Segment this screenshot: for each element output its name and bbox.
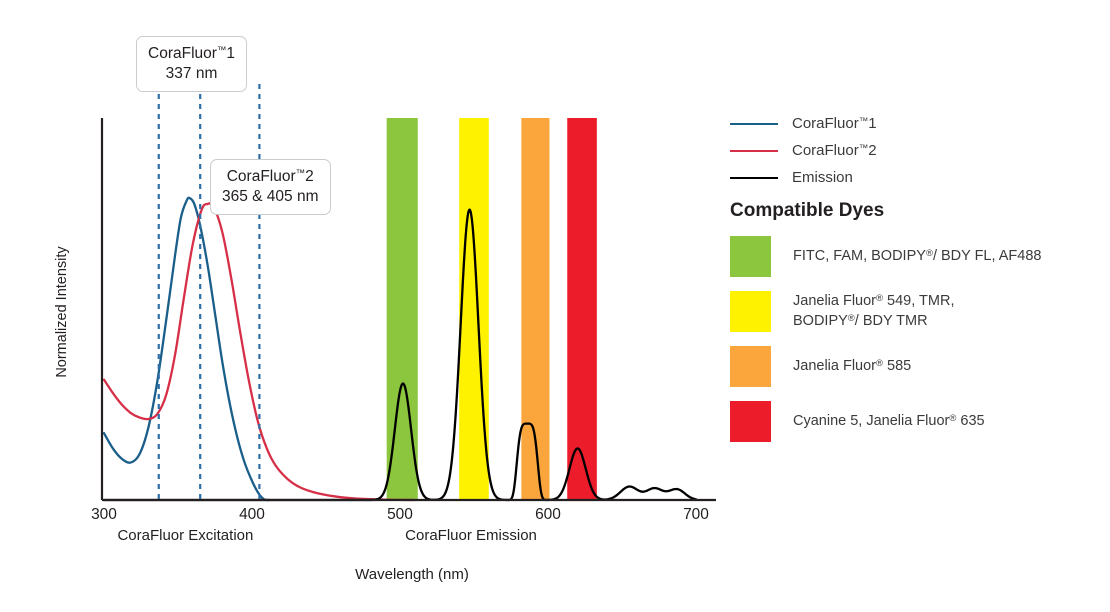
legend-label-tail: 2 [868, 142, 876, 159]
dye-color-swatch [730, 401, 771, 442]
registered-symbol: ® [949, 413, 956, 424]
region-label-excitation: CoraFluor Excitation [117, 527, 253, 544]
legend-line-swatch [730, 150, 778, 152]
dye-color-swatch [730, 291, 771, 332]
excitation-marker-lines [159, 84, 260, 500]
legend-item-label: CoraFluor™1 [792, 115, 877, 132]
dye-label-main: Cyanine 5, Janelia Fluor [793, 413, 949, 429]
legend-label-main: Emission [792, 169, 853, 186]
dye-item-2: Janelia Fluor® 549, TMR,BODIPY®/ BDY TMR [730, 291, 1105, 332]
x-tick-label-400: 400 [239, 506, 265, 524]
registered-symbol: ® [876, 358, 883, 369]
dye-item-1: FITC, FAM, BODIPY®/ BDY FL, AF488 [730, 236, 1105, 277]
trademark-symbol: ™ [859, 143, 869, 154]
legend-item-label: CoraFluor™2 [792, 142, 877, 159]
callout-2-line2: 365 & 405 nm [222, 187, 319, 207]
dye-item-label: Janelia Fluor® 549, TMR,BODIPY®/ BDY TMR [793, 292, 954, 331]
legend-label-main: CoraFluor [792, 142, 859, 159]
dye-label-tail: / BDY TMR [855, 313, 928, 329]
registered-symbol: ® [876, 293, 883, 304]
trademark-symbol: ™ [859, 116, 869, 127]
dye-label-main: FITC, FAM, BODIPY [793, 248, 926, 264]
dye-label-line: Cyanine 5, Janelia Fluor® 635 [793, 412, 985, 431]
callout-coraflour-2: CoraFluor™2 365 & 405 nm [210, 159, 331, 215]
compatible-dyes-title: Compatible Dyes [730, 200, 884, 222]
x-tick-label-600: 600 [535, 506, 561, 524]
legend-label-tail: 1 [868, 115, 876, 132]
registered-symbol: ® [926, 248, 933, 259]
dye-label-tail: 585 [883, 358, 911, 374]
dye-item-3: Janelia Fluor® 585 [730, 346, 1105, 387]
wavelength-bands [387, 118, 597, 500]
callout-2-line1: CoraFluor™2 [222, 167, 319, 187]
red-band [567, 118, 597, 500]
dye-label-line: BODIPY®/ BDY TMR [793, 312, 954, 331]
y-axis-title: Normalized Intensity [54, 246, 70, 377]
x-axis-title: Wavelength (nm) [355, 566, 469, 583]
legend-item-3: Emission [730, 164, 1100, 191]
callout-1-line1: CoraFluor™1 [148, 44, 235, 64]
legend-item-2: CoraFluor™2 [730, 137, 1100, 164]
dye-color-swatch [730, 346, 771, 387]
dye-label-tail: 635 [956, 413, 984, 429]
dye-color-swatch [730, 236, 771, 277]
dye-label-main: Janelia Fluor [793, 293, 876, 309]
legend-label-main: CoraFluor [792, 115, 859, 132]
excitation-curve [104, 198, 270, 500]
legend-item-label: Emission [792, 169, 853, 186]
dye-item-label: Janelia Fluor® 585 [793, 357, 911, 376]
registered-symbol: ® [848, 313, 855, 324]
fluorescence-spectra-figure: CoraFluor™1 337 nm CoraFluor™2 365 & 405… [0, 0, 1110, 612]
yellow-band [459, 118, 489, 500]
dye-label-line: Janelia Fluor® 549, TMR, [793, 292, 954, 311]
callout-coraflour-1: CoraFluor™1 337 nm [136, 36, 247, 92]
x-tick-label-300: 300 [91, 506, 117, 524]
compatible-dyes-list: FITC, FAM, BODIPY®/ BDY FL, AF488Janelia… [730, 236, 1105, 456]
series-legend: CoraFluor™1CoraFluor™2Emission [730, 110, 1100, 191]
dye-item-label: FITC, FAM, BODIPY®/ BDY FL, AF488 [793, 247, 1041, 266]
dye-item-4: Cyanine 5, Janelia Fluor® 635 [730, 401, 1105, 442]
dye-label-line: FITC, FAM, BODIPY®/ BDY FL, AF488 [793, 247, 1041, 266]
dye-label-main: Janelia Fluor [793, 358, 876, 374]
region-label-emission: CoraFluor Emission [405, 527, 537, 544]
legend-line-swatch [730, 177, 778, 179]
legend-line-swatch [730, 123, 778, 125]
dye-item-label: Cyanine 5, Janelia Fluor® 635 [793, 412, 985, 431]
dye-label-main: BODIPY [793, 313, 848, 329]
dye-label-tail: / BDY FL, AF488 [933, 248, 1042, 264]
x-tick-label-500: 500 [387, 506, 413, 524]
callout-1-line2: 337 nm [148, 64, 235, 84]
dye-label-tail: 549, TMR, [883, 293, 954, 309]
legend-item-1: CoraFluor™1 [730, 110, 1100, 137]
dye-label-line: Janelia Fluor® 585 [793, 357, 911, 376]
x-tick-label-700: 700 [683, 506, 709, 524]
